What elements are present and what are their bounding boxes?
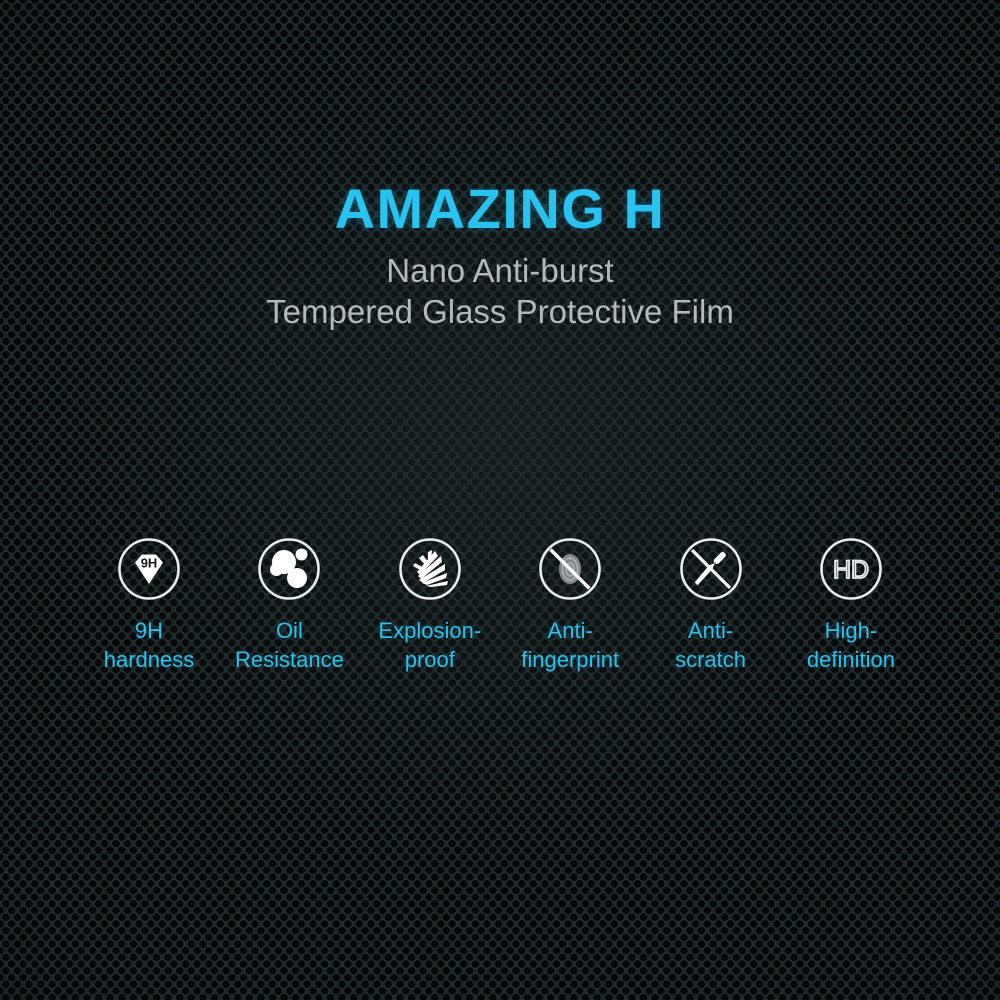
knife-slash-icon (676, 534, 746, 604)
banner-content: AMAZING H Nano Anti-burst Tempered Glass… (0, 0, 1000, 1000)
subtitle-line-2: Tempered Glass Protective Film (0, 291, 1000, 332)
feature-label: 9H hardness (104, 616, 195, 674)
feature-item-anti-fingerprint: Anti- fingerprint (500, 534, 640, 674)
feature-label: Anti- scratch (675, 616, 746, 674)
fingerprint-slash-icon (535, 534, 605, 604)
feature-item-explosion-proof: Explosion- proof (360, 534, 500, 674)
page-title: AMAZING H (0, 178, 1000, 240)
feature-label: Anti- fingerprint (521, 616, 619, 674)
feature-label: High- definition (807, 616, 895, 674)
diamond-9h-icon: 9H (114, 534, 184, 604)
feature-item-high-definition: HD High- definition (781, 534, 921, 674)
shatter-burst-icon (395, 534, 465, 604)
hd-circle-icon: HD (816, 534, 886, 604)
feature-label: Oil Resistance (235, 616, 344, 674)
svg-text:HD: HD (833, 556, 869, 584)
subtitle-line-1: Nano Anti-burst (0, 250, 1000, 291)
svg-text:9H: 9H (141, 556, 158, 571)
subtitle: Nano Anti-burst Tempered Glass Protectiv… (0, 250, 1000, 333)
feature-list: 9H 9H hardness Oil Resistance (79, 534, 921, 674)
feature-label: Explosion- proof (378, 616, 481, 674)
product-banner: AMAZING H Nano Anti-burst Tempered Glass… (0, 0, 1000, 1000)
feature-item-oil-resistance: Oil Resistance (219, 534, 359, 674)
oil-droplets-icon (254, 534, 324, 604)
feature-item-9h-hardness: 9H 9H hardness (79, 534, 219, 674)
feature-item-anti-scratch: Anti- scratch (641, 534, 781, 674)
